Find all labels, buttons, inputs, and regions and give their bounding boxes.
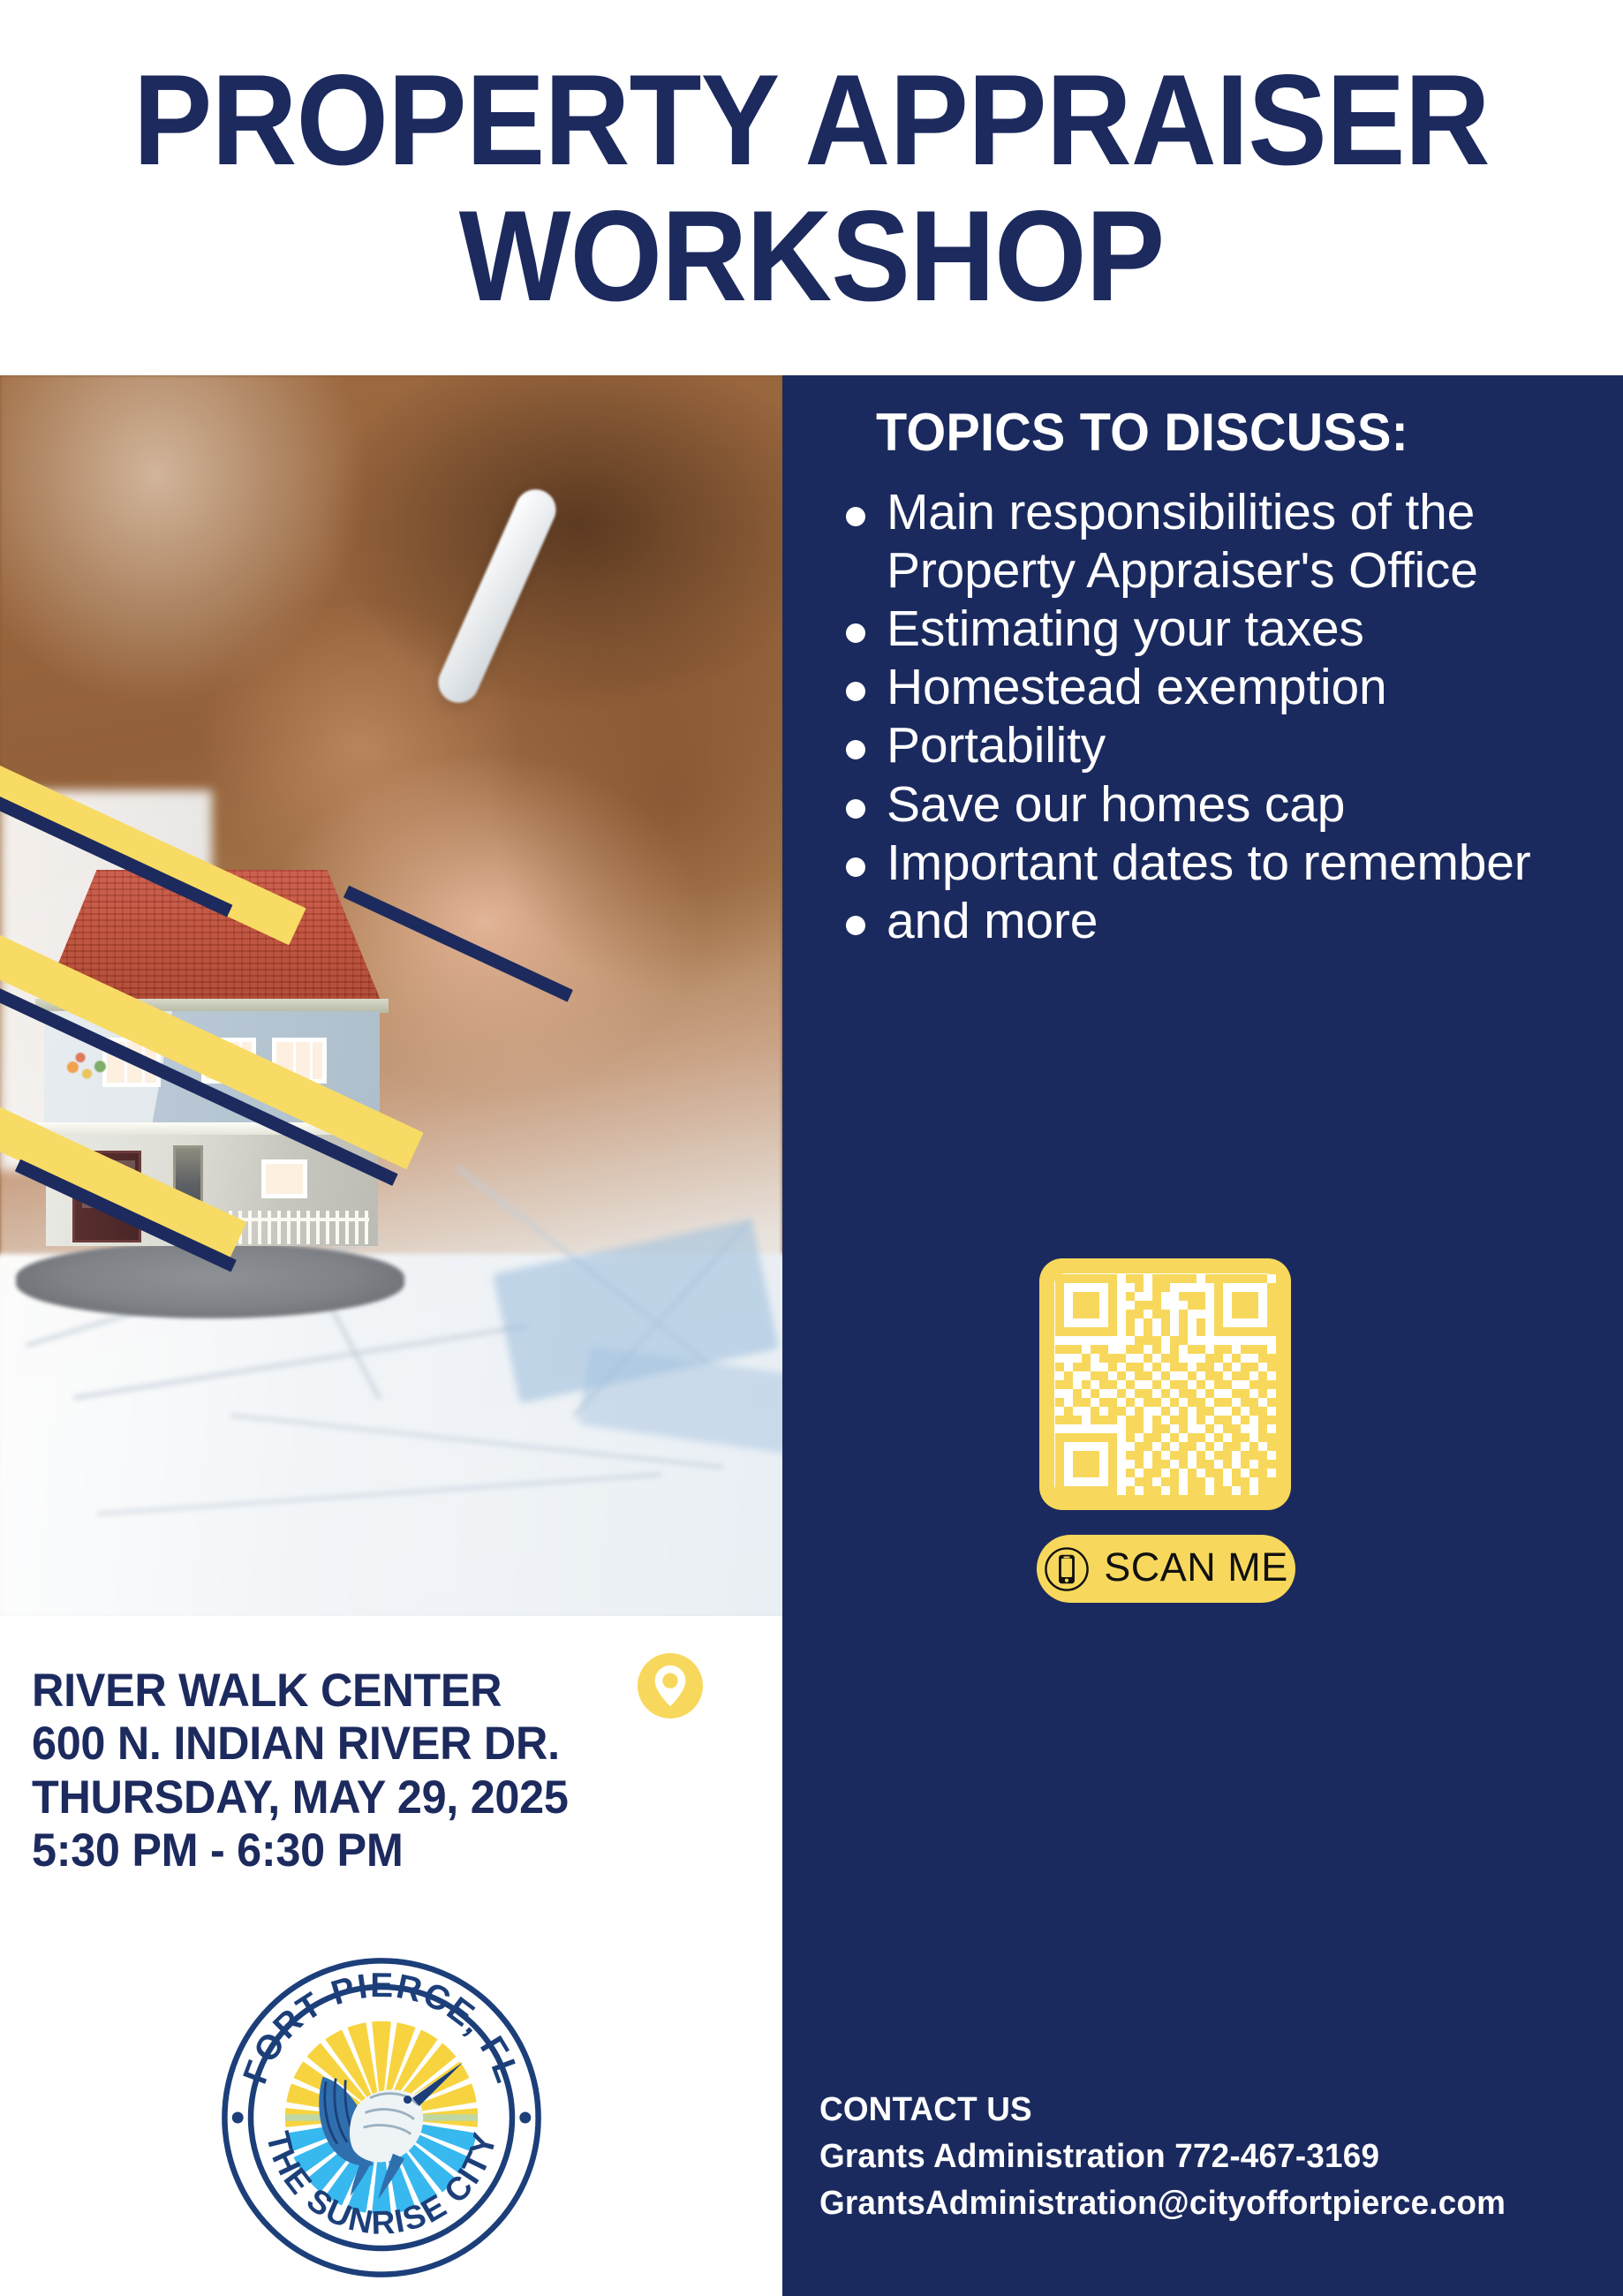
contact-phone-line: Grants Administration 772-467-3169 [819,2138,1585,2176]
contact-email-line[interactable]: GrantsAdministration@cityoffortpierce.co… [819,2185,1585,2223]
topic-item: and more [802,892,1614,950]
contact-heading: CONTACT US [819,2091,1585,2129]
venue-time: 5:30 PM - 6:30 PM [32,1824,619,1877]
topic-item: Estimating your taxes [802,600,1614,658]
contact-block: CONTACT US Grants Administration 772-467… [819,2091,1609,2223]
qr-code-inner [1054,1273,1276,1495]
title-line-1: PROPERTY APPRAISER [133,57,1490,183]
venue-name: RIVER WALK CENTER [32,1665,619,1718]
topic-item: Save our homes cap [802,775,1614,834]
photo-model-house [26,870,397,1311]
topics-heading: TOPICS TO DISCUSS: [876,402,1408,463]
venue-date: THURSDAY, MAY 29, 2025 [32,1771,619,1824]
location-pin-icon [638,1653,703,1718]
title-line-2: WORKSHOP [459,193,1165,319]
topic-item: Important dates to remember [802,834,1614,892]
venue-address: 600 N. INDIAN RIVER DR. [32,1718,619,1771]
scan-me-button[interactable]: SCAN ME [1037,1535,1295,1603]
topic-item: Main responsibilities of the Property Ap… [802,483,1614,600]
qr-code[interactable] [1039,1258,1291,1510]
flyer-poster: PROPERTY APPRAISER WORKSHOP [0,0,1623,2296]
phone-in-circle-icon [1044,1546,1090,1592]
topic-item: Homestead exemption [802,658,1614,716]
qr-code-canvas [1055,1274,1276,1495]
scan-me-label: SCAN ME [1104,1545,1288,1590]
hero-photo [0,375,782,1616]
venue-block: RIVER WALK CENTER 600 N. INDIAN RIVER DR… [32,1665,650,1878]
topics-list: Main responsibilities of the Property Ap… [802,483,1614,950]
navy-content-panel: TOPICS TO DISCUSS: Main responsibilities… [782,375,1623,2296]
topic-item: Portability [802,716,1614,774]
poster-title: PROPERTY APPRAISER WORKSHOP [0,0,1623,375]
city-logo: FORT PIERCE, FL THE SUNRISE CITY [218,1954,545,2281]
